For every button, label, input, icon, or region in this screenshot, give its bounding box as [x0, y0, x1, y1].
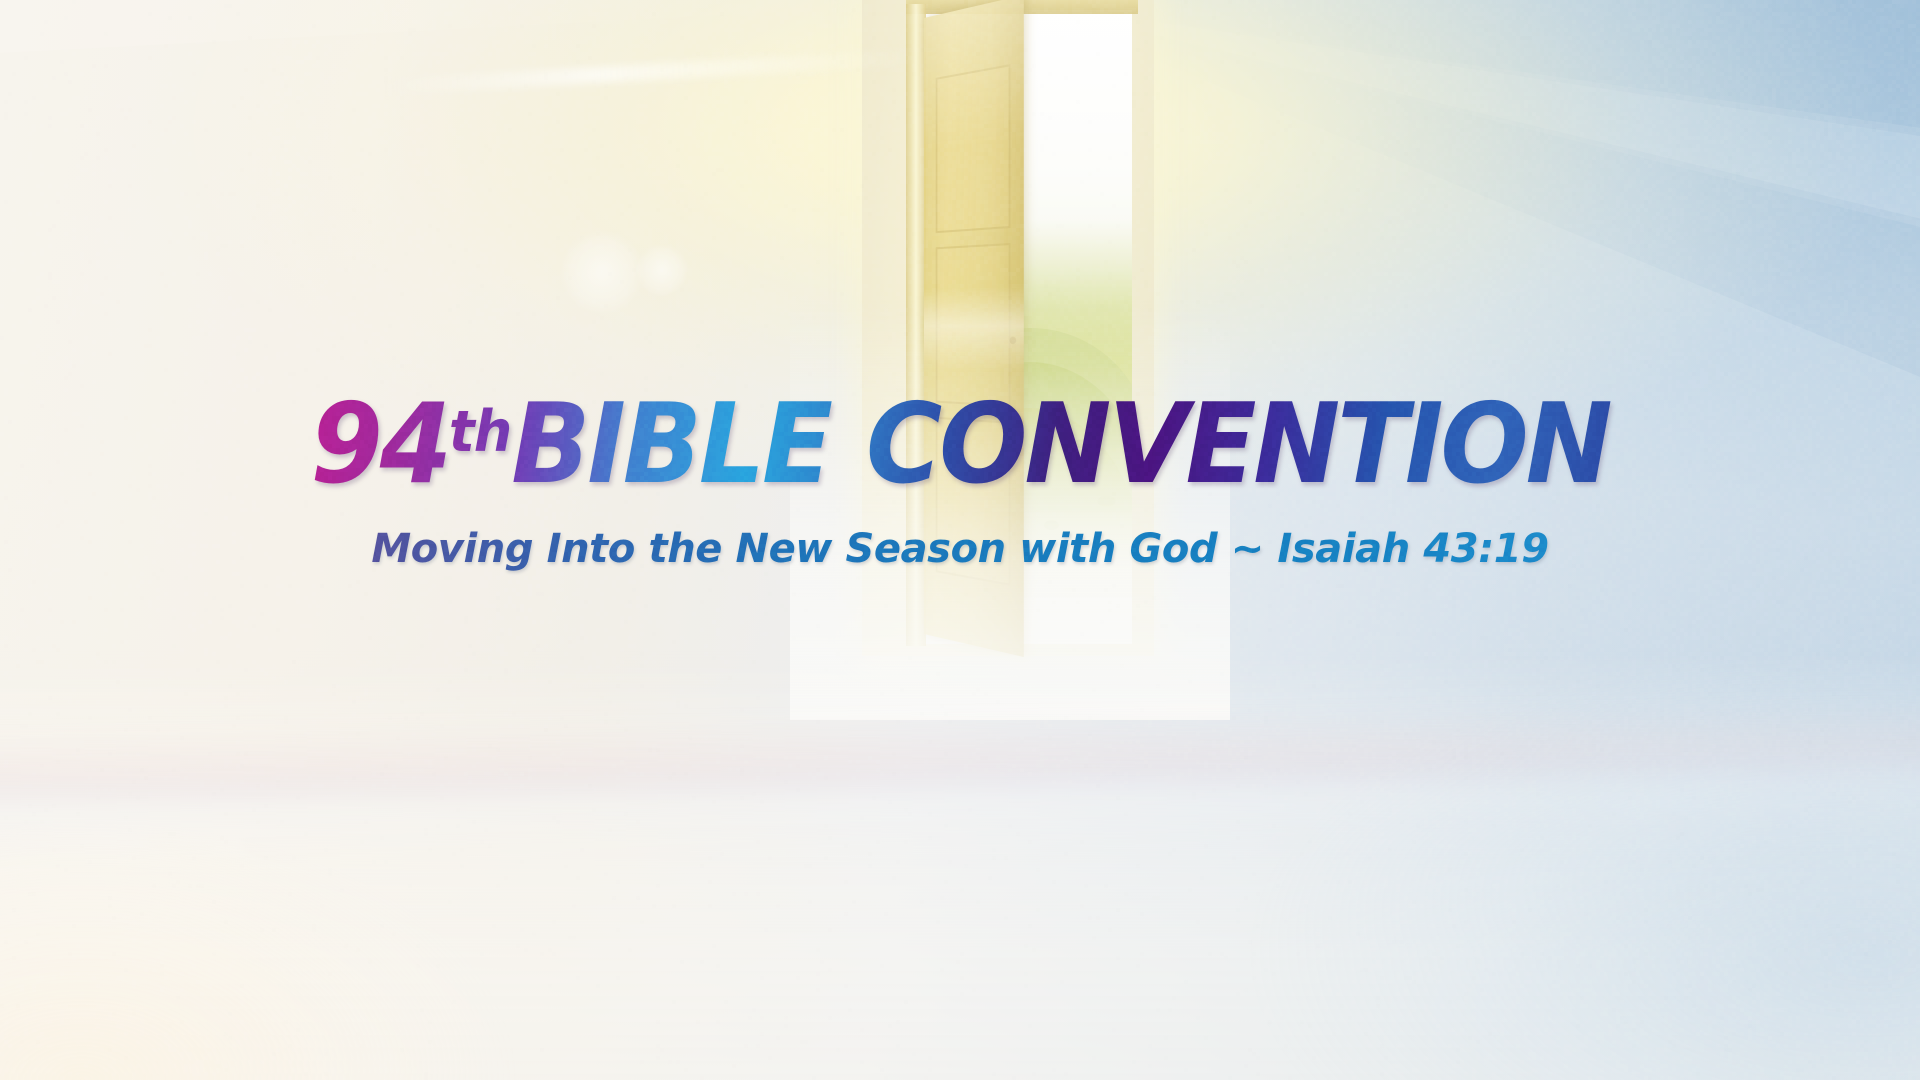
floor-cool-right	[920, 660, 1920, 1080]
title-ordinal-number: 94	[311, 379, 449, 508]
floor-warm-left	[0, 700, 820, 1080]
open-door-graphic	[862, 0, 1154, 686]
door-knob-icon	[1010, 337, 1017, 345]
event-subtitle: Moving Into the New Season with God ~ Is…	[0, 526, 1920, 572]
slide-canvas: 94thBIBLE CONVENTION Moving Into the New…	[0, 0, 1920, 1080]
event-title: 94thBIBLE CONVENTION	[0, 389, 1920, 499]
title-word-gap	[830, 379, 866, 508]
title-word-bible: BIBLE	[511, 379, 830, 508]
lens-flare-orb	[560, 230, 644, 314]
door-plank	[936, 64, 1011, 233]
lens-flare-orb	[636, 244, 688, 296]
headline-block: 94thBIBLE CONVENTION Moving Into the New…	[0, 392, 1920, 572]
title-ordinal-suffix: th	[449, 398, 511, 465]
title-word-convention: CONVENTION	[866, 379, 1609, 508]
